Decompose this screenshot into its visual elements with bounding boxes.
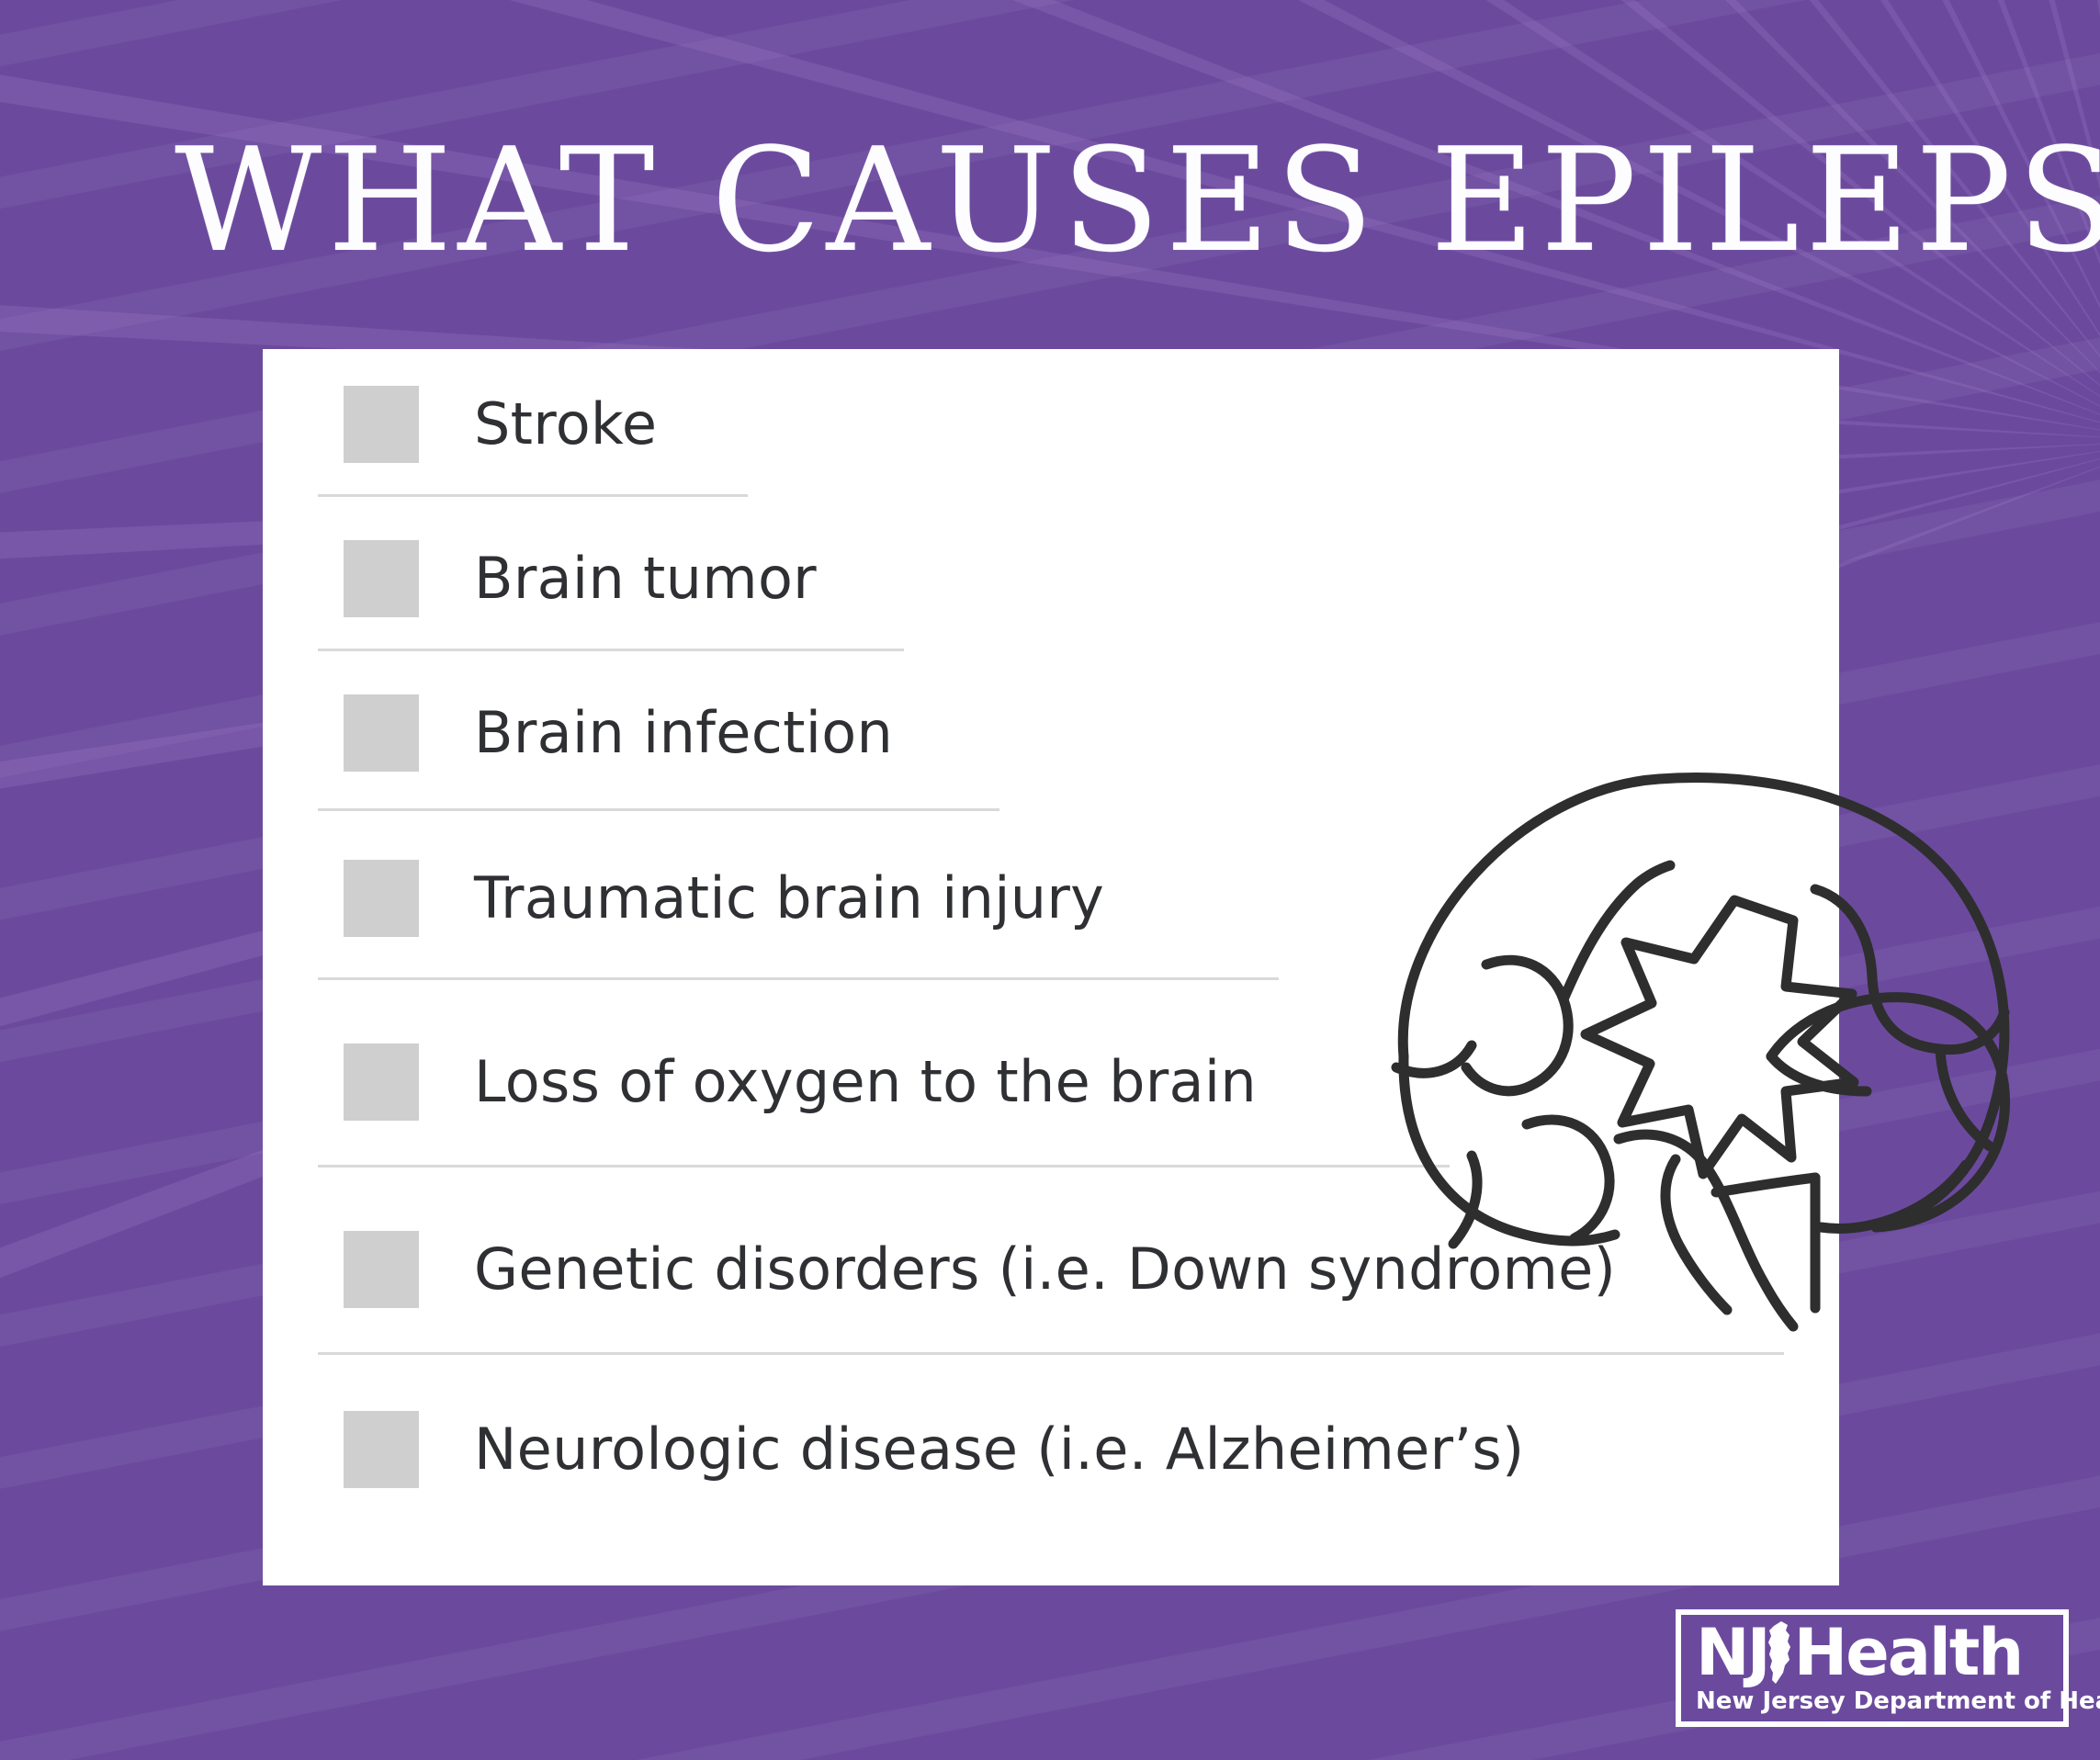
list-divider bbox=[318, 1165, 1450, 1168]
list-item[interactable]: Neurologic disease (i.e. Alzheimer’s) bbox=[344, 1411, 1524, 1488]
page-title: WHAT CAUSES EPILEPSY bbox=[175, 129, 2012, 272]
checkbox-icon[interactable] bbox=[344, 386, 419, 463]
brain-seizure-illustration bbox=[1356, 753, 2091, 1341]
logo-nj-text: NJ bbox=[1696, 1624, 1768, 1682]
checkbox-icon[interactable] bbox=[344, 1411, 419, 1488]
list-item-label: Loss of oxygen to the brain bbox=[474, 1054, 1257, 1111]
checkbox-icon[interactable] bbox=[344, 1231, 419, 1308]
logo-subtitle: New Jersey Department of Health bbox=[1696, 1689, 2049, 1713]
epilepsy-causes-infographic: WHAT CAUSES EPILEPSY Stroke Brain tumor … bbox=[0, 0, 2100, 1760]
checkbox-icon[interactable] bbox=[344, 860, 419, 937]
checkbox-icon[interactable] bbox=[344, 1044, 419, 1121]
checkbox-icon[interactable] bbox=[344, 694, 419, 772]
list-divider bbox=[318, 649, 904, 651]
list-item[interactable]: Brain infection bbox=[344, 694, 893, 772]
list-item[interactable]: Traumatic brain injury bbox=[344, 860, 1104, 937]
list-divider bbox=[318, 494, 748, 497]
list-item[interactable]: Brain tumor bbox=[344, 540, 817, 617]
list-item-label: Neurologic disease (i.e. Alzheimer’s) bbox=[474, 1421, 1524, 1478]
list-item-label: Traumatic brain injury bbox=[474, 870, 1104, 927]
list-divider bbox=[318, 977, 1279, 980]
causes-card: Stroke Brain tumor Brain infection Traum… bbox=[263, 349, 1839, 1585]
list-item-label: Brain tumor bbox=[474, 550, 817, 607]
list-item-label: Brain infection bbox=[474, 705, 893, 762]
list-divider bbox=[318, 808, 999, 811]
checkbox-icon[interactable] bbox=[344, 540, 419, 617]
list-item[interactable]: Stroke bbox=[344, 386, 657, 463]
nj-health-logo: NJ Health New Jersey Department of Healt… bbox=[1676, 1609, 2069, 1727]
list-item[interactable]: Loss of oxygen to the brain bbox=[344, 1044, 1257, 1121]
logo-wordmark: NJ Health bbox=[1696, 1619, 2049, 1686]
logo-health-text: Health bbox=[1794, 1624, 2023, 1682]
list-item-label: Stroke bbox=[474, 396, 657, 453]
list-divider bbox=[318, 1352, 1784, 1355]
